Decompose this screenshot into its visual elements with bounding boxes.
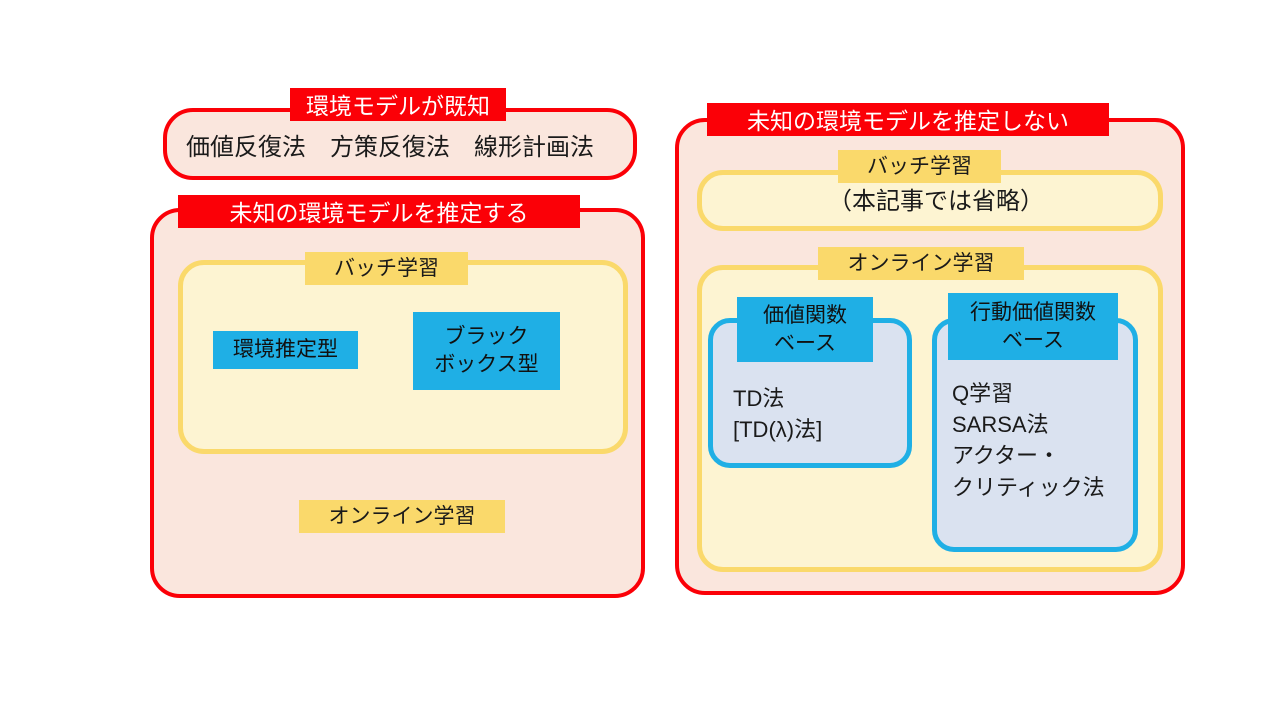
group-estimate-model-header: 未知の環境モデルを推定する	[178, 195, 580, 228]
batch-item-environment-estimation: 環境推定型	[213, 331, 358, 369]
known-model-methods: 価値反復法 方策反復法 線形計画法	[186, 132, 616, 163]
online-item-action-value-function-header-line1: 行動価値関数	[970, 299, 1096, 327]
online-item-action-value-function-header: 行動価値関数 ベース	[948, 293, 1118, 360]
no-estimate-batch-header: バッチ学習	[838, 150, 1001, 183]
group-no-estimate-model-header: 未知の環境モデルを推定しない	[707, 103, 1109, 136]
estimate-online-header: オンライン学習	[299, 500, 505, 533]
group-known-model-header: 環境モデルが既知	[290, 88, 506, 121]
no-estimate-online-header: オンライン学習	[818, 247, 1024, 280]
batch-item-environment-estimation-label: 環境推定型	[233, 336, 338, 364]
no-estimate-batch-note: （本記事では省略）	[828, 186, 1038, 217]
online-item-action-value-function-methods: Q学習 SARSA法 アクター・ クリティック法	[952, 378, 1138, 503]
diagram-canvas: 価値反復法 方策反復法 線形計画法 環境モデルが既知 環境推定型 ブラック ボッ…	[0, 0, 1280, 720]
online-item-value-function-header-line1: 価値関数	[763, 302, 847, 330]
online-item-value-function-methods: TD法 [TD(λ)法]	[733, 383, 908, 445]
online-item-value-function-header-line2: ベース	[774, 330, 836, 358]
batch-item-blackbox-label-line1: ブラック	[445, 323, 529, 351]
batch-item-blackbox: ブラック ボックス型	[413, 312, 560, 390]
online-item-action-value-function-header-line2: ベース	[1002, 327, 1064, 355]
online-item-value-function-header: 価値関数 ベース	[737, 297, 873, 362]
estimate-batch-header: バッチ学習	[305, 252, 468, 285]
batch-item-blackbox-label-line2: ボックス型	[434, 351, 538, 379]
